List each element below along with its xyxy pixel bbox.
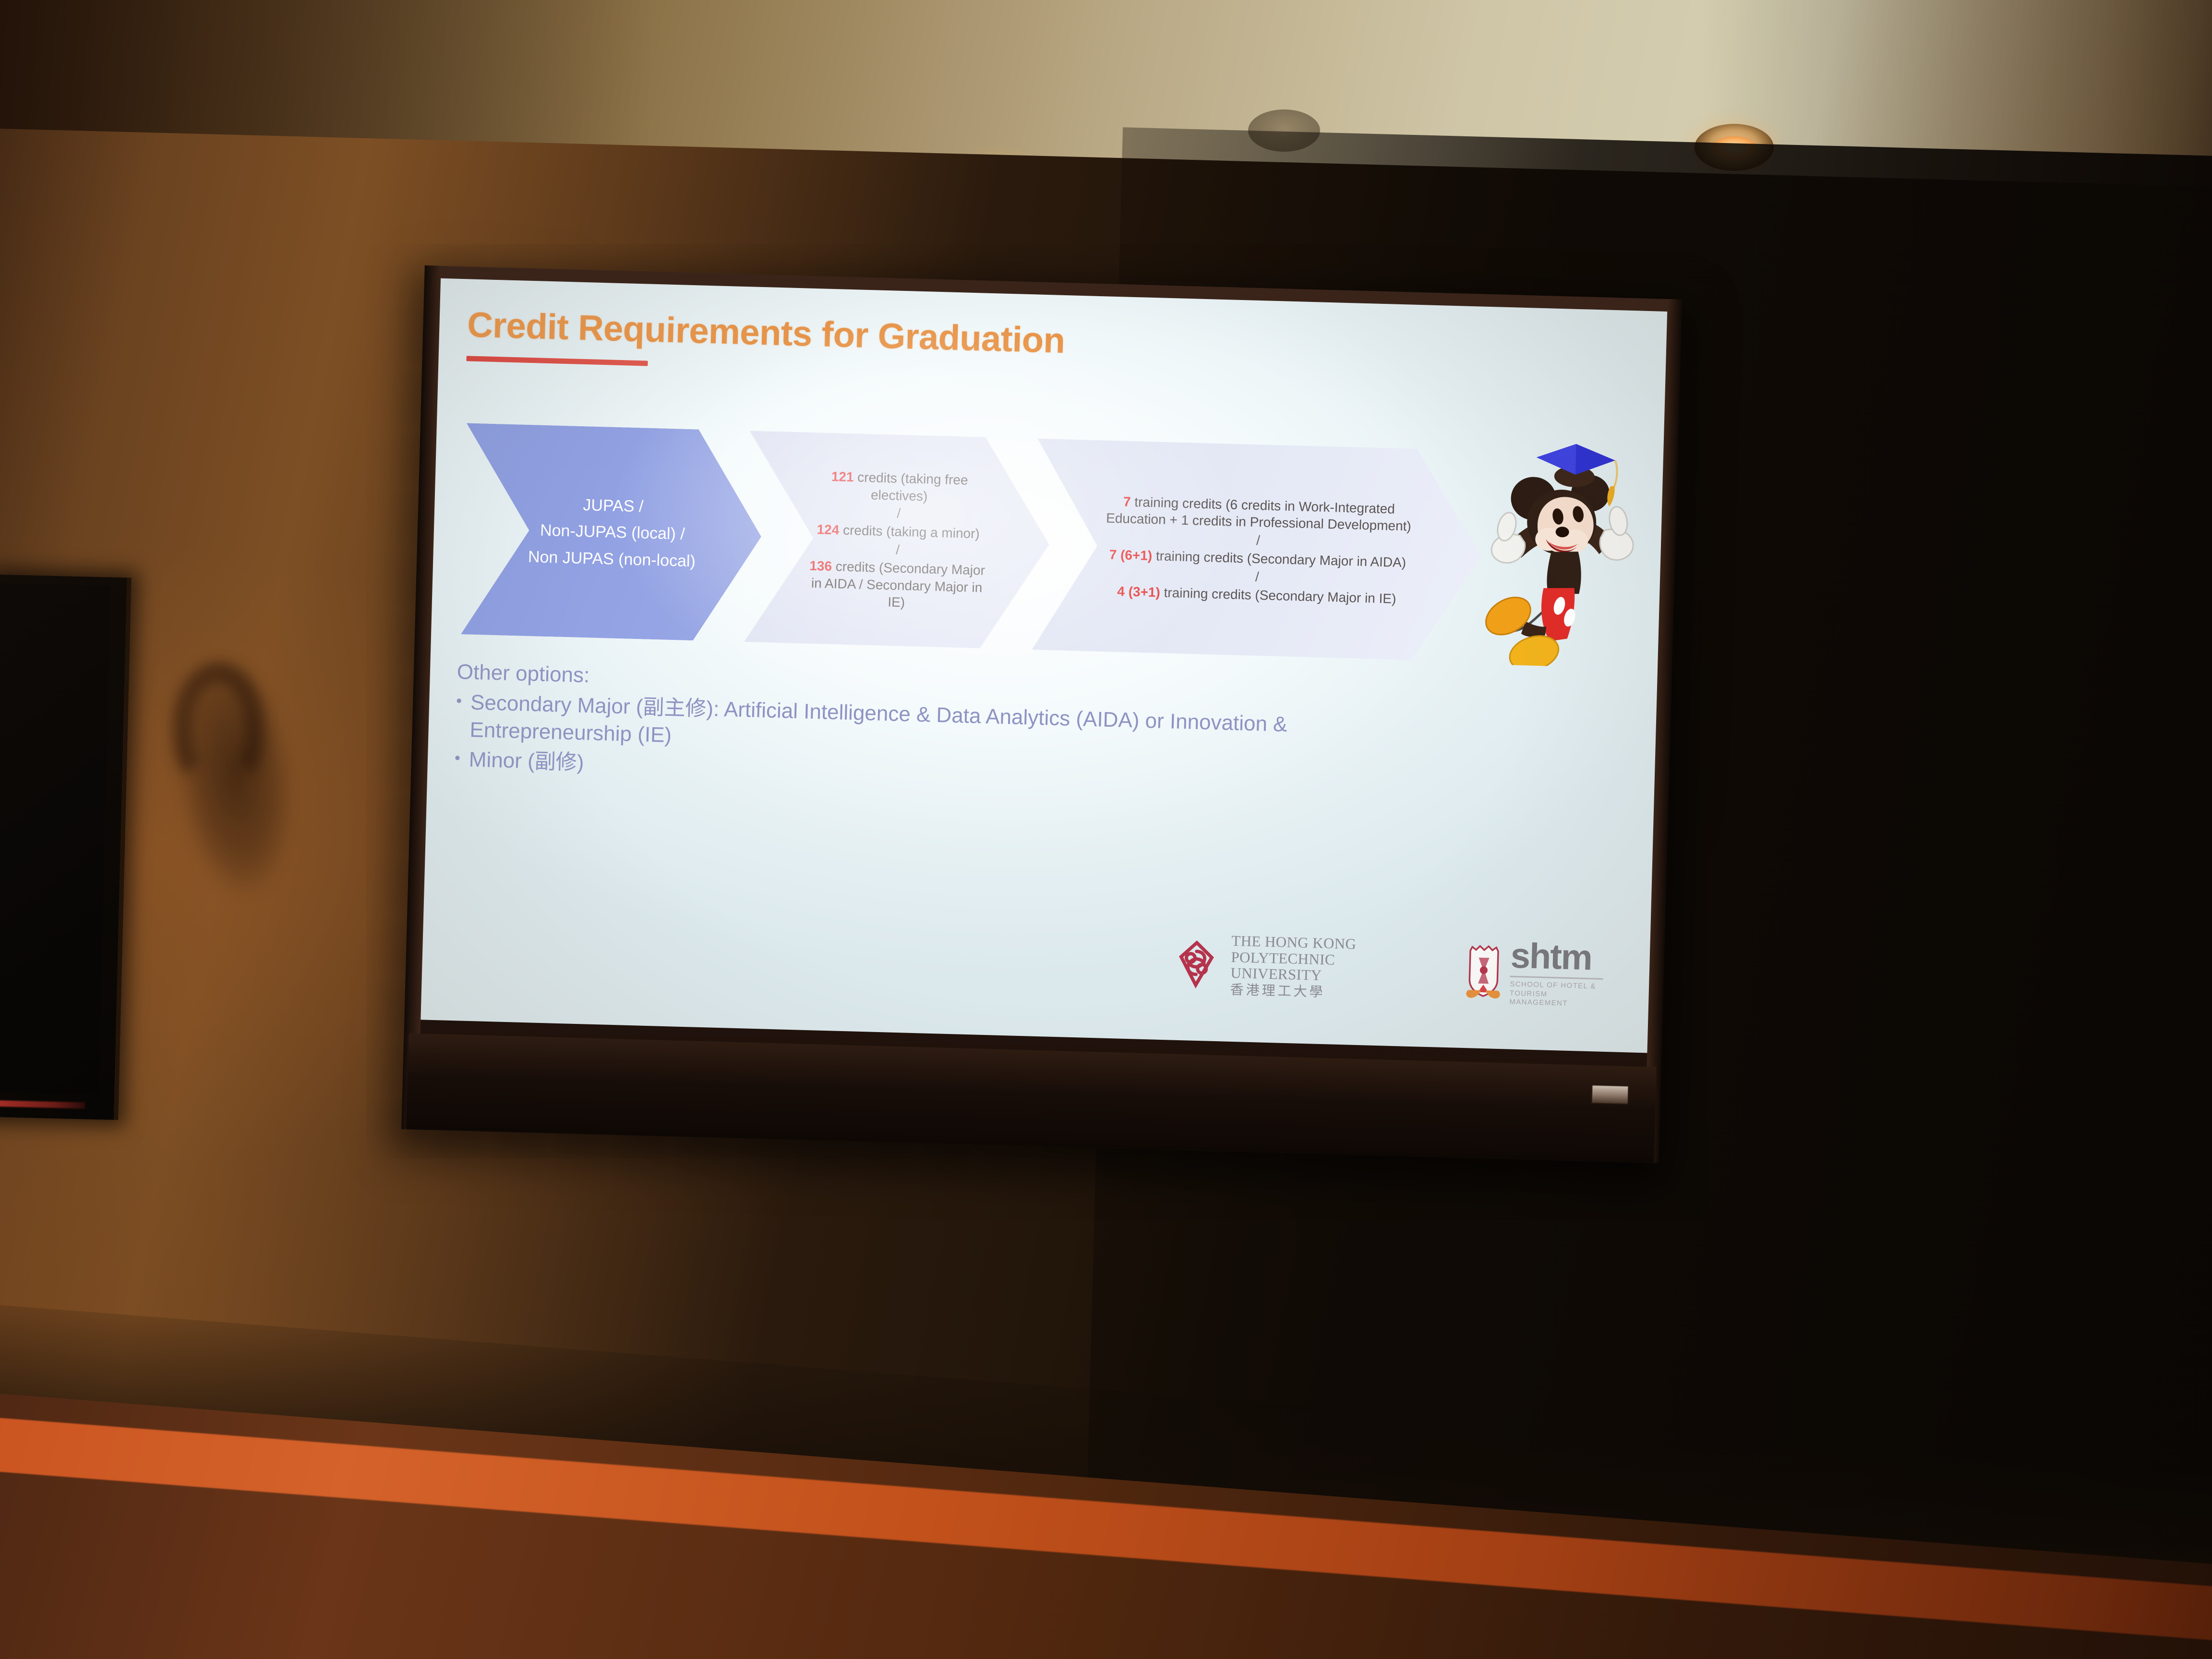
shtm-subtitle-line2: TOURISM MANAGEMENT: [1509, 989, 1603, 1010]
projected-slide: Credit Requirements for Graduation JUPAS…: [421, 278, 1667, 1053]
shtm-wordmark: shtm: [1510, 938, 1604, 975]
credit-number-124: 124: [817, 522, 840, 537]
credit-number-136: 136: [809, 558, 832, 574]
shtm-logo: shtm SCHOOL OF HOTEL & TOURISM MANAGEMEN…: [1464, 937, 1604, 1010]
credit-number-121: 121: [831, 469, 854, 484]
wall-shadow-detail: [173, 662, 264, 787]
bullet-icon: •: [456, 688, 462, 714]
training-label-7: training credits (6 credits in Work-Inte…: [1106, 494, 1411, 534]
chevron1-line-1: JUPAS /: [527, 493, 700, 519]
training-number-7: 7: [1123, 494, 1131, 509]
credit-label-124: credits (taking a minor): [839, 523, 980, 541]
training-number-ie: 4 (3+1): [1117, 584, 1160, 600]
chevron-credit-totals: 121 credits (taking free electives) / 12…: [744, 431, 1052, 650]
monitor-led-indicator: [0, 1100, 85, 1108]
shtm-shield-icon: [1464, 943, 1503, 1000]
other-options-item-minor: Minor (副修): [469, 745, 584, 776]
credit-label-121: credits (taking free electives): [854, 469, 968, 504]
chevron-process-diagram: JUPAS / Non-JUPAS (local) / Non JUPAS (n…: [461, 423, 1479, 661]
monitor-screen: [0, 583, 111, 1094]
credit-label-136: credits (Secondary Major in AIDA / Secon…: [811, 559, 986, 610]
other-options-block: Other options: • Secondary Major (副主修): …: [454, 658, 1398, 798]
wall-monitor: [0, 575, 132, 1120]
page-title: Credit Requirements for Graduation: [467, 304, 1065, 361]
polyu-knot-icon: [1171, 938, 1222, 989]
title-underline: [466, 356, 648, 366]
chevron1-line-3: Non JUPAS (non-local): [525, 547, 698, 572]
bullet-icon: •: [454, 745, 460, 771]
projection-screen: Credit Requirements for Graduation JUPAS…: [401, 265, 1682, 1163]
chevron-training-credits: 7 training credits (6 credits in Work-In…: [1032, 439, 1484, 662]
screen-label-tag: [1591, 1084, 1629, 1105]
logo-row: THE HONG KONG POLYTECHNIC UNIVERSITY 香港理…: [1170, 927, 1604, 1011]
chevron1-line-2: Non-JUPAS (local) /: [526, 520, 699, 545]
chevron-admission-routes: JUPAS / Non-JUPAS (local) / Non JUPAS (n…: [461, 423, 764, 642]
polyu-logo: THE HONG KONG POLYTECHNIC UNIVERSITY 香港理…: [1170, 931, 1420, 1002]
polyu-name-chinese: 香港理工大學: [1230, 982, 1419, 1002]
polyu-name-line2: POLYTECHNIC UNIVERSITY: [1230, 949, 1420, 986]
credit-item-121: 121 credits (taking free electives): [805, 467, 994, 506]
training-number-aida: 7 (6+1): [1109, 547, 1152, 563]
mickey-mouse-graduate-icon: [1472, 438, 1651, 669]
credit-item-136: 136 credits (Secondary Major in AIDA / S…: [802, 557, 991, 613]
